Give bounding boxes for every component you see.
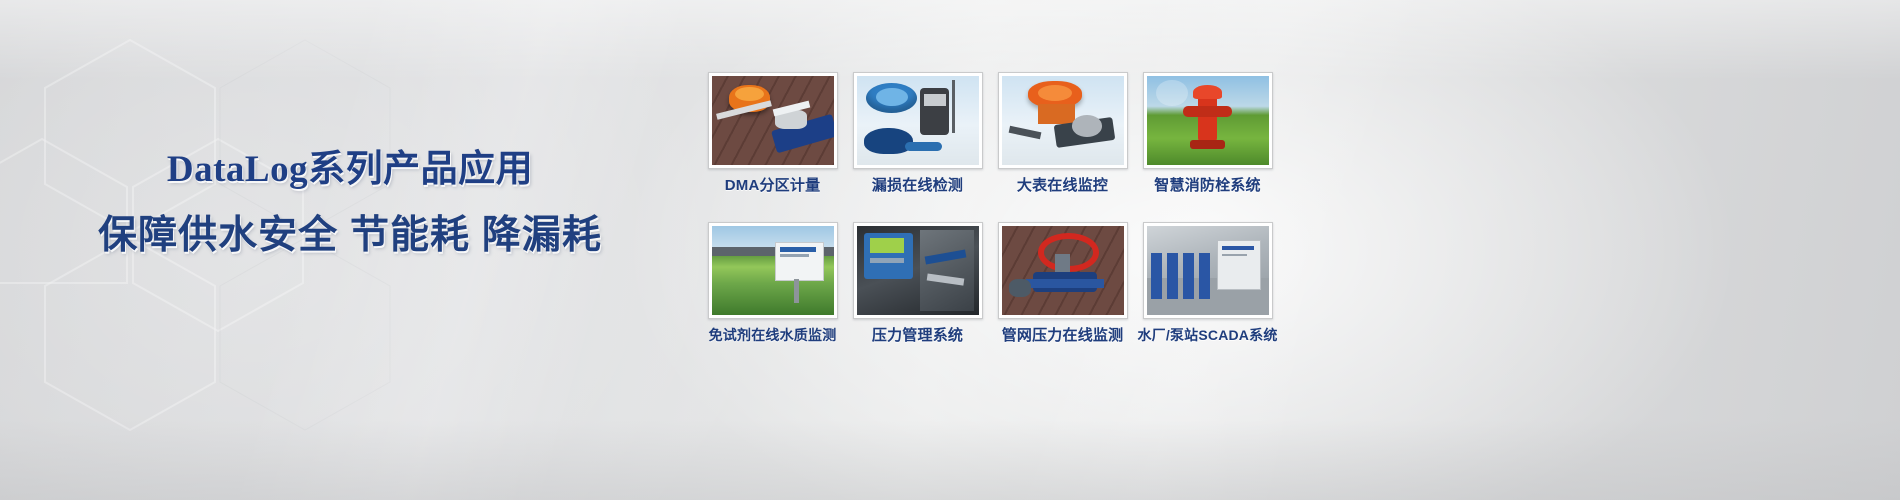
product-thumbnail[interactable] — [708, 222, 838, 319]
product-caption: 智慧消防栓系统 — [1154, 178, 1260, 193]
product-caption: 水厂/泵站SCADA系统 — [1137, 328, 1277, 342]
product-caption: 免试剂在线水质监测 — [709, 328, 837, 342]
promo-banner: DataLog系列产品应用 保障供水安全 节能耗 降漏耗 DMA分区计量 — [0, 0, 1900, 500]
product-caption: 压力管理系统 — [872, 328, 963, 343]
product-caption: 漏损在线检测 — [872, 178, 963, 193]
product-card[interactable]: 水厂/泵站SCADA系统 — [1135, 222, 1280, 372]
product-caption: 大表在线监控 — [1017, 178, 1108, 193]
headline-line-2: 保障供水安全 节能耗 降漏耗 — [0, 215, 700, 258]
product-caption: DMA分区计量 — [725, 178, 821, 193]
pressure-management-photo — [857, 226, 979, 315]
product-thumbnail[interactable] — [998, 222, 1128, 319]
headline-line-1: DataLog系列产品应用 — [0, 150, 700, 191]
product-card[interactable]: 压力管理系统 — [845, 222, 990, 372]
pipeline-pressure-photo — [1002, 226, 1124, 315]
product-card[interactable]: 免试剂在线水质监测 — [700, 222, 845, 372]
product-thumbnail[interactable] — [853, 72, 983, 169]
product-card[interactable]: 大表在线监控 — [990, 72, 1135, 222]
product-thumbnail[interactable] — [1143, 222, 1273, 319]
product-caption: 管网压力在线监测 — [1002, 328, 1124, 343]
product-thumbnail[interactable] — [708, 72, 838, 169]
hexagon-watermark — [0, 0, 760, 500]
product-thumbnail[interactable] — [998, 72, 1128, 169]
dma-metering-photo — [712, 76, 834, 165]
scada-system-photo — [1147, 226, 1269, 315]
large-meter-monitor-photo — [1002, 76, 1124, 165]
leak-detection-photo — [857, 76, 979, 165]
smart-hydrant-photo — [1147, 76, 1269, 165]
product-card[interactable]: DMA分区计量 — [700, 72, 845, 222]
reagentless-quality-photo — [712, 226, 834, 315]
product-grid: DMA分区计量 漏损在线检测 — [700, 72, 1300, 372]
product-thumbnail[interactable] — [853, 222, 983, 319]
product-thumbnail[interactable] — [1143, 72, 1273, 169]
product-card[interactable]: 智慧消防栓系统 — [1135, 72, 1280, 222]
product-card[interactable]: 漏损在线检测 — [845, 72, 990, 222]
headline-block: DataLog系列产品应用 保障供水安全 节能耗 降漏耗 — [0, 150, 700, 258]
product-card[interactable]: 管网压力在线监测 — [990, 222, 1135, 372]
